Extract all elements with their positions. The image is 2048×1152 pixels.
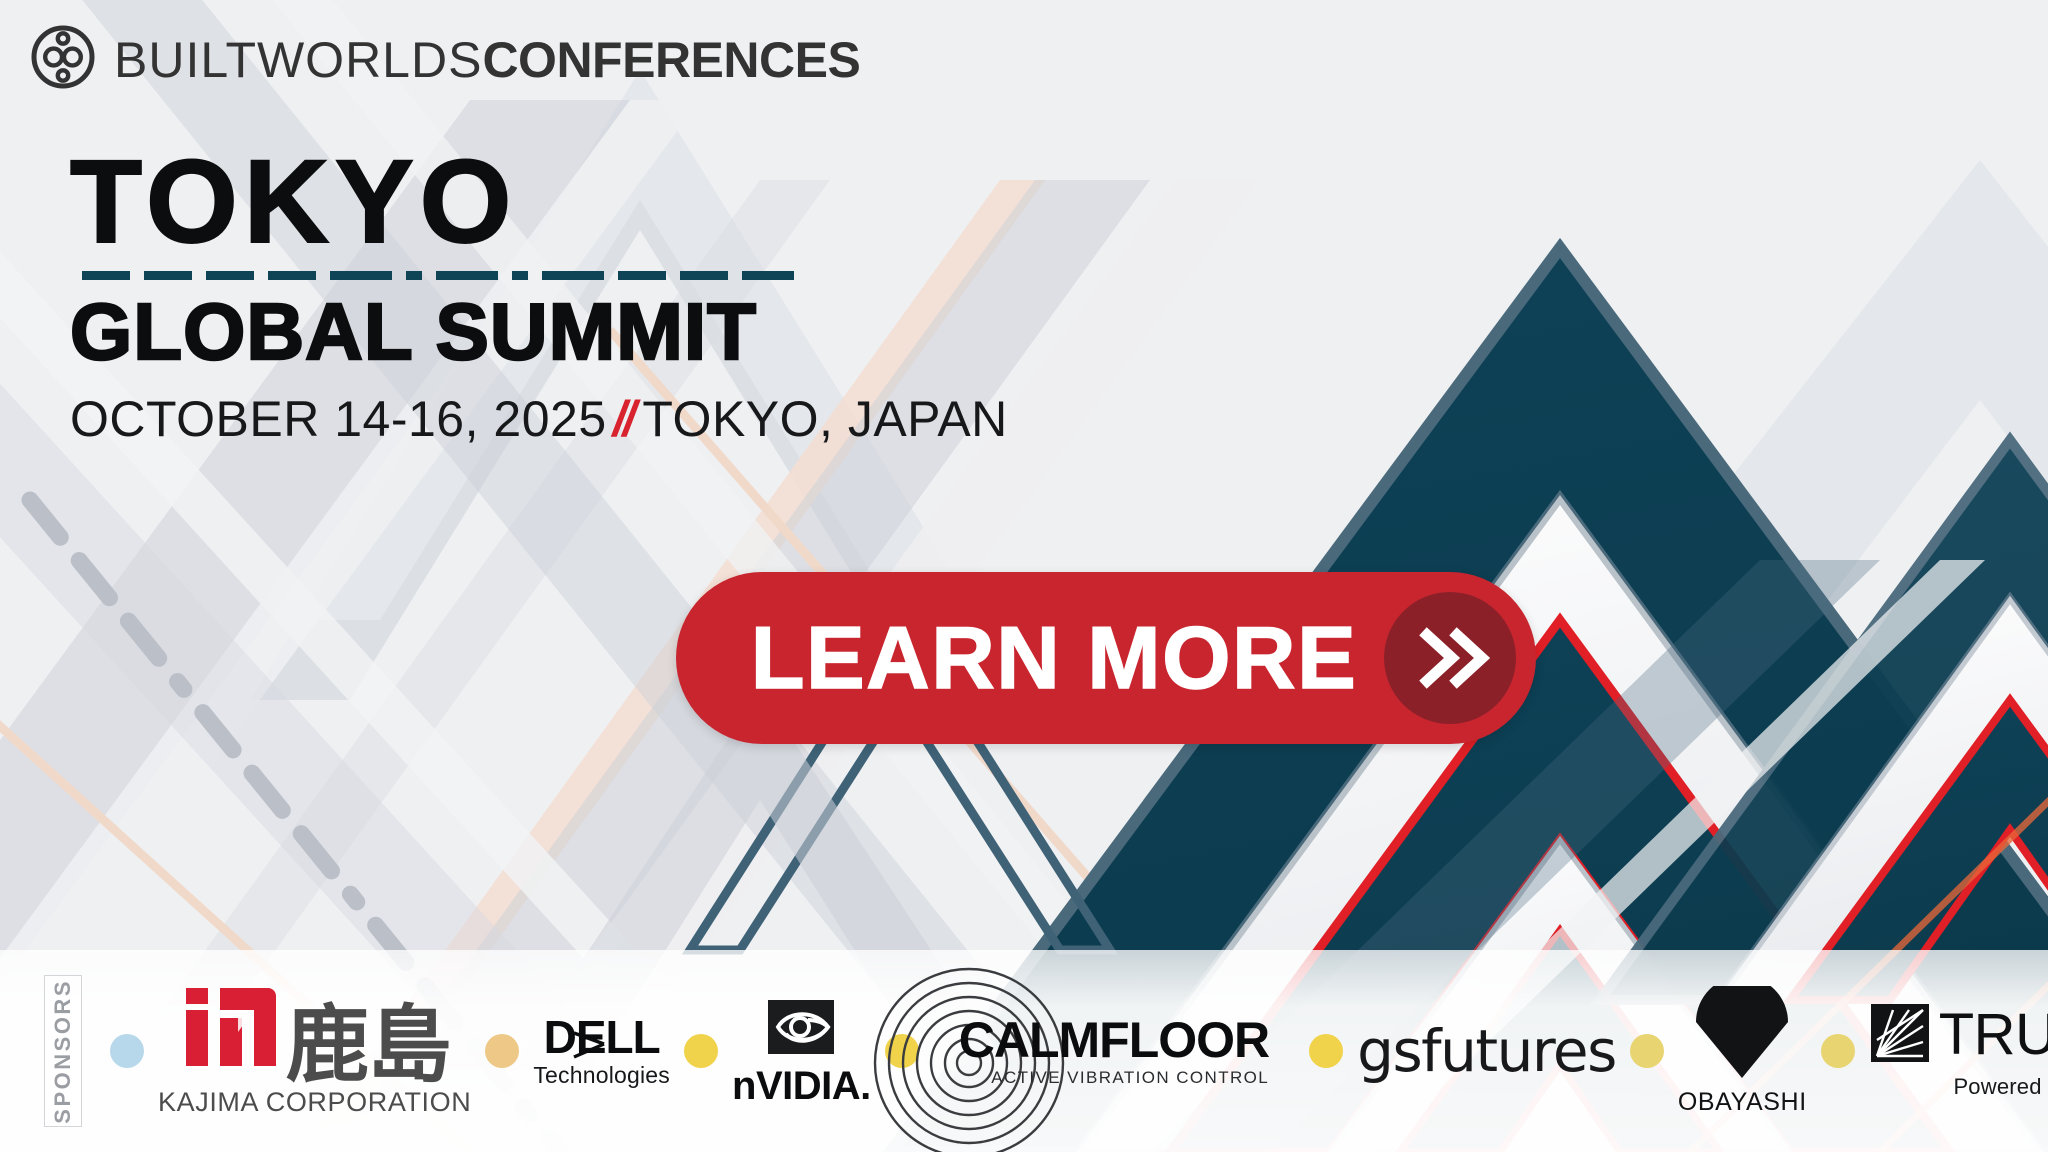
sponsor-logo-calmfloor[interactable]: CALMFLOOR ACTIVE VIBRATION CONTROL <box>959 1015 1269 1088</box>
sponsor-dot-dell <box>485 1034 519 1068</box>
brand-logo[interactable]: BUILTWORLDSCONFERENCES <box>30 24 860 95</box>
conference-promo-banner: BUILTWORLDSCONFERENCES TOKYO GLOBAL SUMM… <box>0 0 2048 1152</box>
hero-block: TOKYO GLOBAL SUMMIT OCTOBER 14-16, 2025/… <box>70 148 1008 444</box>
sponsor-logo-dell[interactable]: DELL Technologies <box>533 1014 670 1089</box>
hero-city-title: TOKYO <box>70 148 1008 257</box>
kajima-kanji: 鹿島 <box>286 1009 450 1081</box>
sponsor-dot-trusstor <box>1821 1034 1855 1068</box>
learn-more-label: LEARN MORE <box>676 614 1384 702</box>
hero-separator: // <box>607 394 643 444</box>
hero-subtitle: GLOBAL SUMMIT <box>70 291 1008 373</box>
calmfloor-wordmark: CALMFLOOR <box>959 1015 1269 1065</box>
obayashi-wordmark: OBAYASHI <box>1678 1088 1807 1117</box>
sponsor-logo-nvidia[interactable]: nVIDIA. <box>732 996 871 1106</box>
brand-name-bold: CONFERENCES <box>482 32 860 88</box>
dell-caption: Technologies <box>533 1062 670 1089</box>
calmfloor-caption: ACTIVE VIBRATION CONTROL <box>959 1068 1269 1088</box>
hero-location: TOKYO, JAPAN <box>642 391 1007 447</box>
sponsor-dot-nvidia <box>684 1034 718 1068</box>
sponsors-label-tag: SPONSORS <box>44 975 82 1127</box>
sponsor-dot-obayashi <box>1630 1034 1664 1068</box>
sponsor-dot-gsfutures <box>1309 1034 1343 1068</box>
trusstor-wordmark: TRUSSTOR <box>1939 1006 2048 1064</box>
builtworlds-circles-logo-icon <box>30 24 96 95</box>
trusstor-mark-icon <box>1869 1002 1931 1069</box>
nvidia-wordmark: nVIDIA. <box>732 1066 871 1106</box>
sponsor-dot-kajima <box>110 1034 144 1068</box>
sponsor-logo-obayashi[interactable]: OBAYASHI <box>1678 986 1807 1117</box>
hero-date: OCTOBER 14-16, 2025 <box>70 391 607 447</box>
kajima-mark-icon <box>180 984 276 1081</box>
trusstor-caption: Powered by DAITEC <box>1953 1072 2048 1101</box>
double-chevron-right-icon <box>1384 592 1516 724</box>
sponsors-label: SPONSORS <box>50 979 76 1124</box>
gsfutures-wordmark: gsfutures <box>1357 1022 1616 1080</box>
dell-wordmark: DELL <box>544 1014 660 1060</box>
sponsor-logo-gsfutures[interactable]: gsfutures <box>1357 1022 1616 1080</box>
brand-name-light: BUILTWORLDS <box>114 32 482 88</box>
dell-slash-icon <box>572 1022 606 1054</box>
kajima-caption: KAJIMA CORPORATION <box>158 1087 471 1118</box>
nvidia-eye-icon <box>764 996 838 1063</box>
hero-dateline: OCTOBER 14-16, 2025//TOKYO, JAPAN <box>70 394 1008 444</box>
obayashi-mark-icon <box>1690 986 1794 1087</box>
learn-more-button[interactable]: LEARN MORE <box>676 572 1536 744</box>
brand-wordmark: BUILTWORLDSCONFERENCES <box>114 35 860 85</box>
dash-dot-divider <box>82 271 794 280</box>
sponsor-logo-kajima[interactable]: 鹿島 KAJIMA CORPORATION <box>158 984 471 1118</box>
sponsor-logo-trusstor[interactable]: TRUSSTOR Powered by DAITEC <box>1869 1002 2048 1101</box>
sponsors-bar: SPONSORS 鹿島 <box>0 950 2048 1152</box>
trusstor-caption-prefix: Powered by <box>1953 1074 2048 1099</box>
